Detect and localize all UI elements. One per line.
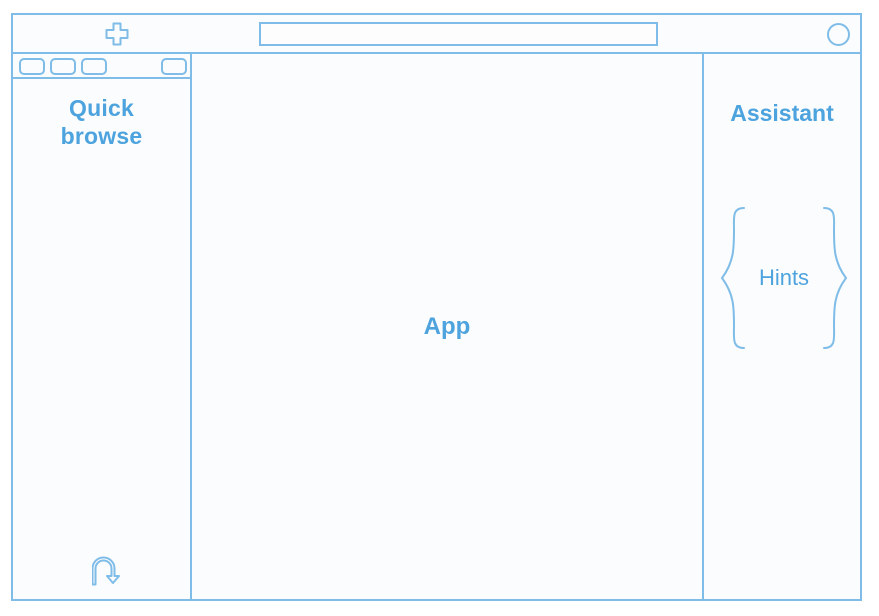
- app-label: App: [192, 313, 702, 341]
- hints-label: Hints: [714, 265, 854, 291]
- sidebar-item-tab-4[interactable]: [161, 58, 187, 75]
- sidebar-item-tab-1[interactable]: [19, 58, 45, 75]
- hints-group: Hints: [714, 204, 854, 352]
- sidebar-item-tab-3[interactable]: [81, 58, 107, 75]
- address-input[interactable]: [261, 24, 656, 44]
- sidebar-title: Quick browse: [13, 94, 190, 150]
- sidebar-item-tab-2[interactable]: [50, 58, 76, 75]
- sidebar-title-line-2: browse: [13, 122, 190, 150]
- plus-icon[interactable]: [104, 22, 130, 46]
- window-frame: Quick browse App Assistant: [11, 13, 862, 601]
- app-main-area: App: [192, 54, 704, 599]
- assistant-title: Assistant: [704, 100, 860, 127]
- sidebar-tab-strip: [13, 54, 190, 79]
- address-bar[interactable]: [259, 22, 658, 46]
- sidebar-title-line-1: Quick: [13, 94, 190, 122]
- quick-browse-sidebar: Quick browse: [13, 54, 192, 599]
- browser-toolbar: [13, 15, 860, 54]
- window-body: Quick browse App Assistant: [13, 54, 860, 599]
- assistant-panel: Assistant Hints: [704, 54, 860, 599]
- u-turn-arrow-icon[interactable]: [92, 556, 124, 586]
- wireframe-screen: Quick browse App Assistant: [0, 0, 879, 616]
- circle-avatar-icon[interactable]: [827, 23, 850, 46]
